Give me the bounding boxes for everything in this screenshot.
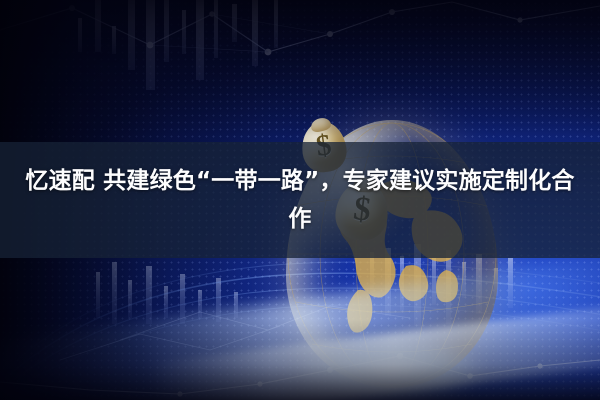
page-title: 忆速配 共建绿色“一带一路”，专家建议实施定制化合作 xyxy=(17,162,583,238)
news-banner: $ $ 忆速配 共建绿色“一带一路”，专家建议实施定制化合作 xyxy=(0,0,600,400)
headline-band: 忆速配 共建绿色“一带一路”，专家建议实施定制化合作 xyxy=(0,142,600,258)
